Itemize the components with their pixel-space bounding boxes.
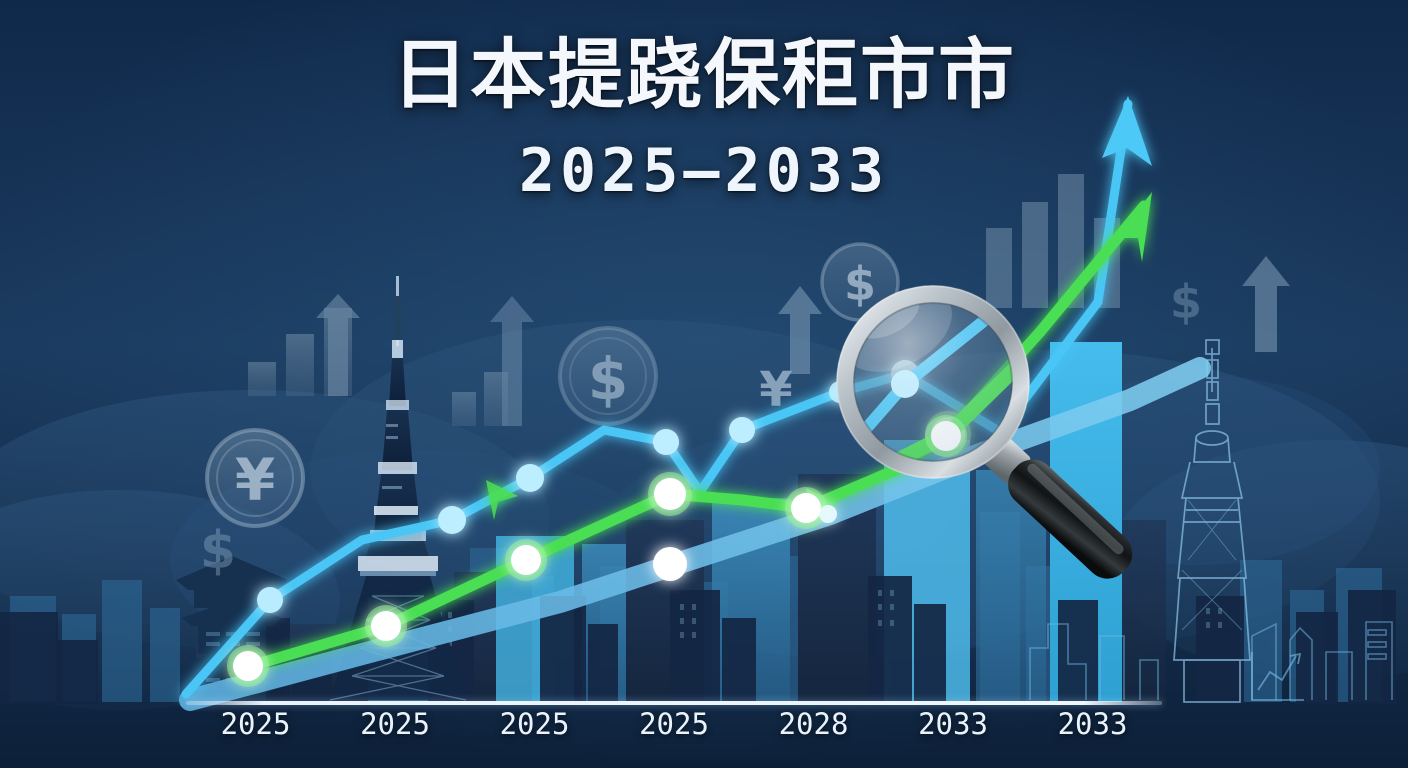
x-axis-tick-labels: 2025 2025 2025 2025 2028 2033 2033 (186, 707, 1162, 753)
page-subtitle: 2025–2033 (0, 136, 1408, 206)
x-tick-label: 2025 (605, 707, 744, 741)
x-tick-label: 2025 (465, 707, 604, 741)
x-tick-label: 2028 (744, 707, 883, 741)
magnifier-handle (978, 431, 1141, 588)
x-tick-label: 2033 (884, 707, 1023, 741)
x-axis-line (186, 701, 1162, 705)
x-tick-label: 2025 (326, 707, 465, 741)
x-tick-label: 2033 (1023, 707, 1162, 741)
infographic-canvas: ¥ $ $ $ $ ¥ (0, 0, 1408, 768)
x-tick-label: 2025 (186, 707, 325, 741)
title-block: 日本提跷保秬市市 2025–2033 (0, 34, 1408, 206)
page-title: 日本提跷保秬市市 (0, 34, 1408, 116)
